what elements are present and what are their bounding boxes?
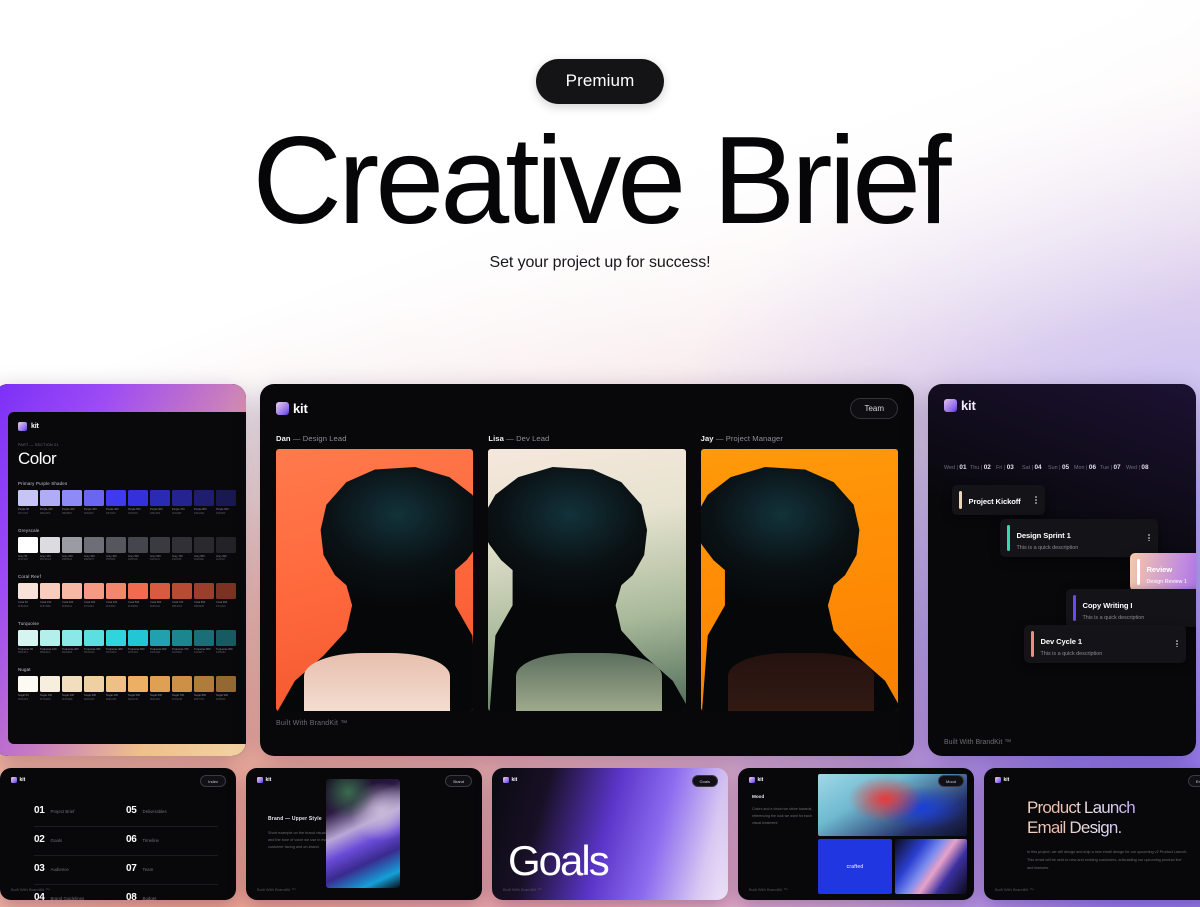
day-of-week: Sun |: [1048, 465, 1062, 471]
swatch-chip: [18, 630, 38, 646]
swatch-chip: [62, 676, 82, 692]
team-badge[interactable]: Team: [850, 398, 898, 419]
timeline-day[interactable]: Sat | 04: [1022, 464, 1048, 471]
mood-tile-label: crafted: [847, 864, 864, 870]
swatch-hex: #D85A3F: [150, 605, 170, 609]
main-card-row: kit PART — SECTION 01 Color Primary Purp…: [0, 384, 1200, 756]
mood-image-abstract: [895, 839, 967, 894]
toc-number: 02: [34, 834, 45, 845]
day-number: 04: [1035, 464, 1042, 471]
task-description: Design Review 1: [1147, 579, 1187, 585]
timeline-day[interactable]: Wed | 08: [1126, 464, 1152, 471]
member-name: Jay: [701, 434, 714, 443]
task-description: This is a quick description: [1083, 615, 1145, 621]
brandkit-mark-icon: [11, 777, 17, 783]
timeline-day-header: Wed | 01Thu | 02Fri | 03Sat | 04Sun | 05…: [944, 464, 1196, 471]
toc-item[interactable]: 01Project Brief: [34, 798, 126, 827]
toc-item[interactable]: 07Team: [126, 856, 218, 885]
team-member-name-role: Lisa — Dev Lead: [488, 434, 685, 443]
color-swatch[interactable]: Coral 700#B94A33: [172, 583, 192, 609]
timeline-day[interactable]: Fri | 03: [996, 464, 1022, 471]
thumbnail-table-of-contents[interactable]: kit Index 01Project Brief05Deliverables0…: [0, 768, 236, 900]
swatch-hex: #F2DEBE: [62, 698, 82, 702]
brandkit-wordmark: kit: [512, 777, 518, 783]
swatch-chip: [84, 676, 104, 692]
task-menu-icon[interactable]: [1166, 639, 1178, 649]
team-member[interactable]: Jay — Project Manager: [701, 434, 898, 711]
swatch-chip: [172, 583, 192, 599]
color-swatch[interactable]: Nugat 600#E0A054: [150, 676, 170, 702]
swatch-hex: #B4EFEC: [40, 651, 60, 655]
swatch-hex: #EEC086: [106, 698, 126, 702]
color-swatch[interactable]: Nugat 400#EEC086: [106, 676, 126, 702]
thumbnail-brand-guide[interactable]: kit Brand Brand — Upper Style Short exam…: [246, 768, 482, 900]
swatch-hex: #1A6E77: [194, 651, 214, 655]
member-role: — Design Lead: [293, 434, 347, 443]
color-swatch[interactable]: Purple 900#191852: [216, 490, 236, 516]
color-swatch[interactable]: Grey 600#3A3A41: [150, 537, 170, 563]
brandkit-wordmark: kit: [20, 777, 26, 783]
day-number: 06: [1089, 464, 1096, 471]
timeline-card[interactable]: kit Wed | 01Thu | 02Fri | 03Sat | 04Sun …: [928, 384, 1196, 756]
color-card-gradient-frame: kit PART — SECTION 01 Color Primary Purp…: [0, 384, 246, 756]
swatch-hex: #232327: [216, 558, 236, 562]
brand-artwork: [326, 779, 400, 888]
swatch-hex: #56565F: [106, 558, 126, 562]
swatch-hex: #FDFAF3: [18, 698, 38, 702]
swatch-hex: #FFFFFF: [18, 558, 38, 562]
brandkit-wordmark: kit: [31, 423, 39, 430]
swatch-chip: [106, 537, 126, 553]
team-member[interactable]: Dan — Design Lead: [276, 434, 473, 711]
color-swatch[interactable]: Purple 400#3F39F0: [106, 490, 126, 516]
day-of-week: Mon |: [1074, 465, 1089, 471]
brandkit-mark-icon: [503, 777, 509, 783]
member-portrait: [488, 449, 685, 711]
swatch-hex: #45454D: [128, 558, 148, 562]
color-swatch[interactable]: Nugat 700#CD9046: [172, 676, 192, 702]
color-swatch[interactable]: Purple 800#1E1D6E: [194, 490, 214, 516]
swatch-chip: [216, 537, 236, 553]
day-number: 05: [1062, 464, 1069, 471]
task-title: Copy Writing I: [1083, 601, 1133, 610]
swatch-hex: #DCDCE0: [40, 558, 60, 562]
swatch-hex: #191852: [216, 512, 236, 516]
swatch-hex: #303036: [172, 558, 192, 562]
brandkit-mark-icon: [749, 777, 755, 783]
color-swatch[interactable]: Turquoise 800#1A6E77: [194, 630, 214, 656]
team-member-name-role: Dan — Design Lead: [276, 434, 473, 443]
color-swatch[interactable]: Nugat 800#B07C3C: [194, 676, 214, 702]
brandkit-footer: Built With BrandKit ™: [944, 739, 1011, 746]
task-menu-icon[interactable]: [1186, 603, 1196, 613]
palette-name: Coral Reef: [18, 574, 236, 579]
color-swatch[interactable]: Coral 300#F79A84: [84, 583, 104, 609]
color-swatch[interactable]: Purple 300#6A66F2: [84, 490, 104, 516]
toc-item[interactable]: 05Deliverables: [126, 798, 218, 827]
palette-name: Primary Purple Shades: [18, 481, 236, 486]
swatch-chip: [106, 583, 126, 599]
member-portrait: [701, 449, 898, 711]
timeline-day[interactable]: Mon | 06: [1074, 464, 1100, 471]
palette-name: Turquoise: [18, 621, 236, 626]
swatch-hex: #185A62: [216, 651, 236, 655]
task-accent-bar: [959, 491, 962, 509]
color-swatch[interactable]: Coral 50#F8E2DA: [18, 583, 38, 609]
swatch-chip: [40, 537, 60, 553]
toc-number: 08: [126, 892, 137, 900]
swatch-hex: #5CDFE0: [84, 651, 104, 655]
brandkit-wordmark: kit: [1004, 777, 1010, 783]
swatch-chip: [216, 630, 236, 646]
brandkit-footer: Built With BrandKit ™: [257, 887, 295, 892]
swatch-chip: [128, 490, 148, 506]
palette-group: Primary Purple ShadesPurple 50#C7C4F7Pur…: [18, 481, 236, 516]
day-of-week: Wed |: [1126, 465, 1141, 471]
swatch-chip: [18, 676, 38, 692]
swatch-hex: #23C6D4: [128, 651, 148, 655]
toc-item[interactable]: 06Timeline: [126, 827, 218, 856]
brandkit-mark-icon: [257, 777, 263, 783]
task-title: Project Kickoff: [969, 497, 1021, 506]
color-swatch[interactable]: Grey 800#29292E: [194, 537, 214, 563]
swatch-chip: [84, 537, 104, 553]
day-of-week: Tue |: [1100, 465, 1113, 471]
brandkit-footer: Built With BrandKit ™: [503, 887, 541, 892]
color-swatch[interactable]: Purple 600#2B2AB4: [150, 490, 170, 516]
swatch-row: Grey 50#FFFFFFGrey 100#DCDCE0Grey 200#9B…: [18, 537, 236, 563]
color-swatch[interactable]: Purple 500#3330DC: [128, 490, 148, 516]
swatch-hex: #CD9046: [172, 698, 192, 702]
color-swatch[interactable]: Nugat 200#F2DEBE: [62, 676, 82, 702]
toc-item[interactable]: 02Goals: [34, 827, 126, 856]
timeline-task[interactable]: Dev Cycle 1This is a quick description: [1024, 625, 1186, 663]
swatch-hex: #F7EEDD: [40, 698, 60, 702]
color-swatch[interactable]: Coral 400#F4866C: [106, 583, 126, 609]
swatch-hex: #3F39F0: [106, 512, 126, 516]
swatch-chip: [40, 630, 60, 646]
brandkit-wordmark: kit: [961, 398, 976, 413]
brandkit-logo: kit: [944, 398, 1196, 413]
toc-number: 03: [34, 863, 45, 874]
mood-tile-crafted: crafted: [818, 839, 892, 894]
swatch-chip: [216, 676, 236, 692]
member-portrait: [276, 449, 473, 711]
timeline-task[interactable]: Copy Writing IThis is a quick descriptio…: [1066, 589, 1196, 627]
brandkit-footer: Built With BrandKit ™: [276, 720, 898, 727]
swatch-hex: #3A3A41: [150, 558, 170, 562]
color-swatch[interactable]: Turquoise 900#185A62: [216, 630, 236, 656]
brand-badge[interactable]: Brand: [445, 775, 472, 787]
brandkit-mark-icon: [995, 777, 1001, 783]
toc-label: Deliverables: [143, 809, 167, 814]
swatch-hex: #24238F: [172, 512, 192, 516]
color-card-eyebrow: PART — SECTION 01: [18, 443, 236, 447]
palette-list: Primary Purple ShadesPurple 50#C7C4F7Pur…: [18, 481, 236, 702]
swatch-chip: [84, 630, 104, 646]
swatch-hex: #B07C3C: [194, 698, 214, 702]
swatch-hex: #8AE8E6: [62, 651, 82, 655]
swatch-hex: #2FD4DC: [106, 651, 126, 655]
day-number: 01: [959, 464, 966, 471]
color-swatch[interactable]: Turquoise 700#1C8690: [172, 630, 192, 656]
color-swatch[interactable]: Nugat 300#EFD0A2: [84, 676, 104, 702]
swatch-hex: #7C3122: [216, 605, 236, 609]
color-swatch[interactable]: Grey 200#9B9BA4: [62, 537, 82, 563]
team-member-name-role: Jay — Project Manager: [701, 434, 898, 443]
color-swatch[interactable]: Turquoise 400#2FD4DC: [106, 630, 126, 656]
swatch-hex: #F4866C: [106, 605, 126, 609]
portrait-garment: [516, 653, 662, 711]
swatch-hex: #F8CDBE: [40, 605, 60, 609]
brandkit-logo: kit: [995, 777, 1009, 783]
task-accent-bar: [1007, 525, 1010, 551]
swatch-chip: [150, 490, 170, 506]
swatch-hex: #B0ADF6: [40, 512, 60, 516]
palette-group: NugatNugat 50#FDFAF3Nugat 100#F7EEDDNuga…: [18, 667, 236, 702]
brandkit-mark-icon: [18, 422, 27, 431]
color-swatch[interactable]: Purple 700#24238F: [172, 490, 192, 516]
toc-label: Goals: [51, 838, 62, 843]
goals-badge[interactable]: Goals: [692, 775, 718, 787]
swatch-chip: [150, 676, 170, 692]
premium-badge[interactable]: Premium: [536, 59, 665, 104]
brandkit-logo: kit: [749, 777, 763, 783]
swatch-row: Purple 50#C7C4F7Purple 100#B0ADF6Purple …: [18, 490, 236, 516]
swatch-chip: [172, 630, 192, 646]
member-name: Lisa: [488, 434, 504, 443]
color-swatch[interactable]: Nugat 500#EDAF63: [128, 676, 148, 702]
brandkit-logo: kit: [276, 401, 308, 416]
timeline-task[interactable]: ReviewDesign Review 1: [1130, 553, 1196, 591]
color-swatch[interactable]: Coral 500#F26B4E: [128, 583, 148, 609]
swatch-chip: [194, 490, 214, 506]
toc-number: 04: [34, 892, 45, 900]
brandkit-logo: kit: [18, 422, 236, 431]
swatch-chip: [150, 630, 170, 646]
toc-label: Brand Guidelines: [51, 896, 85, 900]
mood-badge[interactable]: Mood: [938, 775, 964, 787]
swatch-chip: [84, 490, 104, 506]
swatch-hex: #E0A054: [150, 698, 170, 702]
brandkit-logo: kit: [11, 777, 25, 783]
toc-label: Budget: [143, 896, 157, 900]
email-title: Product LaunchEmail Design.: [1027, 798, 1188, 838]
color-swatch[interactable]: Grey 300#6E6E78: [84, 537, 104, 563]
swatch-chip: [128, 583, 148, 599]
task-description: This is a quick description: [1041, 651, 1103, 657]
swatch-chip: [172, 676, 192, 692]
task-menu-icon[interactable]: [1025, 495, 1037, 505]
swatch-chip: [194, 537, 214, 553]
color-palette-card[interactable]: kit PART — SECTION 01 Color Primary Purp…: [0, 384, 246, 756]
task-accent-bar: [1031, 631, 1034, 657]
toc-label: Audience: [51, 867, 69, 872]
swatch-chip: [172, 537, 192, 553]
color-swatch[interactable]: Turquoise 200#8AE8E6: [62, 630, 82, 656]
swatch-chip: [216, 490, 236, 506]
swatch-chip: [18, 537, 38, 553]
page-title: Creative Brief: [0, 118, 1200, 244]
swatch-hex: #B94A33: [172, 605, 192, 609]
brandkit-mark-icon: [944, 399, 957, 412]
swatch-chip: [150, 537, 170, 553]
swatch-hex: #6E6E78: [84, 558, 104, 562]
task-title: Review: [1147, 565, 1173, 574]
color-swatch[interactable]: Grey 100#DCDCE0: [40, 537, 60, 563]
palette-group: GreyscaleGrey 50#FFFFFFGrey 100#DCDCE0Gr…: [18, 528, 236, 563]
thumbnail-goals[interactable]: kit Goals Goals Built With BrandKit ™: [492, 768, 728, 900]
day-number: 07: [1113, 464, 1120, 471]
swatch-hex: #2B2AB4: [150, 512, 170, 516]
swatch-chip: [128, 537, 148, 553]
portrait-garment: [728, 653, 874, 711]
brandkit-footer: Built With BrandKit ™: [749, 887, 787, 892]
mood-title: Mood: [752, 794, 818, 799]
toc-number: 05: [126, 805, 137, 816]
toc-number: 06: [126, 834, 137, 845]
day-of-week: Sat |: [1022, 465, 1035, 471]
color-swatch[interactable]: Grey 700#303036: [172, 537, 192, 563]
swatch-hex: #C7C4F7: [18, 512, 38, 516]
swatch-chip: [62, 537, 82, 553]
swatch-hex: #946832: [216, 698, 236, 702]
toc-item[interactable]: 08Budget: [126, 885, 218, 900]
swatch-row: Nugat 50#FDFAF3Nugat 100#F7EEDDNugat 200…: [18, 676, 236, 702]
brandkit-footer: Built With BrandKit ™: [11, 887, 49, 892]
swatch-chip: [18, 490, 38, 506]
team-card[interactable]: kit Team Dan — Design Lead: [260, 384, 914, 756]
day-number: 03: [1007, 464, 1014, 471]
team-member[interactable]: Lisa — Dev Lead: [488, 434, 685, 711]
color-swatch[interactable]: Grey 900#232327: [216, 537, 236, 563]
timeline-day[interactable]: Thu | 02: [970, 464, 996, 471]
timeline-day[interactable]: Sun | 05: [1048, 464, 1074, 471]
swatch-hex: #F8B9A4: [62, 605, 82, 609]
color-swatch[interactable]: Nugat 100#F7EEDD: [40, 676, 60, 702]
color-card-inner: kit PART — SECTION 01 Color Primary Purp…: [8, 412, 246, 744]
toc-item[interactable]: 03Audience: [34, 856, 126, 885]
color-swatch[interactable]: Nugat 900#946832: [216, 676, 236, 702]
toc-badge[interactable]: Index: [200, 775, 226, 787]
palette-name: Nugat: [18, 667, 236, 672]
swatch-chip: [84, 583, 104, 599]
timeline-task[interactable]: Design Sprint 1This is a quick descripti…: [1000, 519, 1158, 557]
swatch-hex: #F8E2DA: [18, 605, 38, 609]
swatch-chip: [18, 583, 38, 599]
swatch-chip: [150, 583, 170, 599]
portrait-garment: [304, 653, 450, 711]
palette-group: Coral ReefCoral 50#F8E2DACoral 100#F8CDB…: [18, 574, 236, 609]
brandkit-wordmark: kit: [758, 777, 764, 783]
swatch-hex: #F26B4E: [128, 605, 148, 609]
timeline-day[interactable]: Wed | 01: [944, 464, 970, 471]
swatch-chip: [62, 583, 82, 599]
color-swatch[interactable]: Coral 200#F8B9A4: [62, 583, 82, 609]
brandkit-wordmark: kit: [293, 401, 308, 416]
thumbnail-email-design[interactable]: kit Email Product LaunchEmail Design. In…: [984, 768, 1200, 900]
color-swatch[interactable]: Grey 50#FFFFFF: [18, 537, 38, 563]
task-menu-icon[interactable]: [1138, 533, 1150, 543]
page-root: Premium Creative Brief Set your project …: [0, 0, 1200, 907]
color-swatch[interactable]: Turquoise 50#D6F5F2: [18, 630, 38, 656]
palette-name: Greyscale: [18, 528, 236, 533]
swatch-hex: #F79A84: [84, 605, 104, 609]
swatch-chip: [106, 630, 126, 646]
color-swatch[interactable]: Turquoise 600#1FA2AE: [150, 630, 170, 656]
swatch-chip: [194, 676, 214, 692]
day-of-week: Fri |: [996, 465, 1007, 471]
email-badge[interactable]: Email: [1188, 775, 1200, 787]
swatch-hex: #1E1D6E: [194, 512, 214, 516]
swatch-chip: [216, 583, 236, 599]
brandkit-logo: kit: [257, 777, 271, 783]
swatch-chip: [40, 490, 60, 506]
timeline-task[interactable]: Project Kickoff: [952, 485, 1045, 515]
swatch-hex: #3330DC: [128, 512, 148, 516]
swatch-hex: #9B3E2B: [194, 605, 214, 609]
color-swatch[interactable]: Coral 800#9B3E2B: [194, 583, 214, 609]
toc-label: Project Brief: [51, 809, 75, 814]
color-swatch[interactable]: Grey 500#45454D: [128, 537, 148, 563]
task-description: This is a quick description: [1017, 545, 1079, 551]
color-swatch[interactable]: Nugat 50#FDFAF3: [18, 676, 38, 702]
email-body: In this project, we will design and ship…: [1027, 849, 1188, 873]
hero-section: Premium Creative Brief Set your project …: [0, 0, 1200, 272]
swatch-row: Turquoise 50#D6F5F2Turquoise 100#B4EFECT…: [18, 630, 236, 656]
member-role: — Project Manager: [716, 434, 783, 443]
color-swatch[interactable]: Purple 50#C7C4F7: [18, 490, 38, 516]
toc-item-grid: 01Project Brief05Deliverables02Goals06Ti…: [34, 798, 218, 900]
color-swatch[interactable]: Coral 100#F8CDBE: [40, 583, 60, 609]
color-swatch[interactable]: Purple 100#B0ADF6: [40, 490, 60, 516]
swatch-row: Coral 50#F8E2DACoral 100#F8CDBECoral 200…: [18, 583, 236, 609]
brandkit-logo: kit: [503, 777, 517, 783]
swatch-hex: #8E8BF6: [62, 512, 82, 516]
color-swatch[interactable]: Grey 400#56565F: [106, 537, 126, 563]
day-number: 02: [984, 464, 991, 471]
color-swatch[interactable]: Turquoise 100#B4EFEC: [40, 630, 60, 656]
swatch-hex: #1FA2AE: [150, 651, 170, 655]
swatch-chip: [128, 676, 148, 692]
color-swatch[interactable]: Turquoise 300#5CDFE0: [84, 630, 104, 656]
swatch-chip: [106, 676, 126, 692]
swatch-hex: #EDAF63: [128, 698, 148, 702]
color-swatch[interactable]: Turquoise 500#23C6D4: [128, 630, 148, 656]
color-swatch[interactable]: Coral 900#7C3122: [216, 583, 236, 609]
swatch-chip: [62, 630, 82, 646]
color-swatch[interactable]: Purple 200#8E8BF6: [62, 490, 82, 516]
email-text-block: Product LaunchEmail Design. In this proj…: [1027, 798, 1188, 873]
mood-text-block: Mood Colors and a vision we strive towar…: [752, 794, 818, 828]
color-swatch[interactable]: Coral 600#D85A3F: [150, 583, 170, 609]
thumbnail-row: kit Index 01Project Brief05Deliverables0…: [0, 768, 1200, 900]
swatch-chip: [128, 630, 148, 646]
swatch-chip: [194, 583, 214, 599]
swatch-chip: [40, 676, 60, 692]
swatch-chip: [62, 490, 82, 506]
swatch-chip: [106, 490, 126, 506]
task-title: Dev Cycle 1: [1041, 637, 1083, 646]
goals-title: Goals: [508, 840, 608, 882]
team-card-header: kit Team: [276, 398, 898, 419]
color-card-title: Color: [18, 449, 236, 469]
timeline-day[interactable]: Tue | 07: [1100, 464, 1126, 471]
thumbnail-moodboard[interactable]: kit Mood Mood Colors and a vision we str…: [738, 768, 974, 900]
day-number: 08: [1141, 464, 1148, 471]
toc-number: 07: [126, 863, 137, 874]
day-of-week: Thu |: [970, 465, 984, 471]
